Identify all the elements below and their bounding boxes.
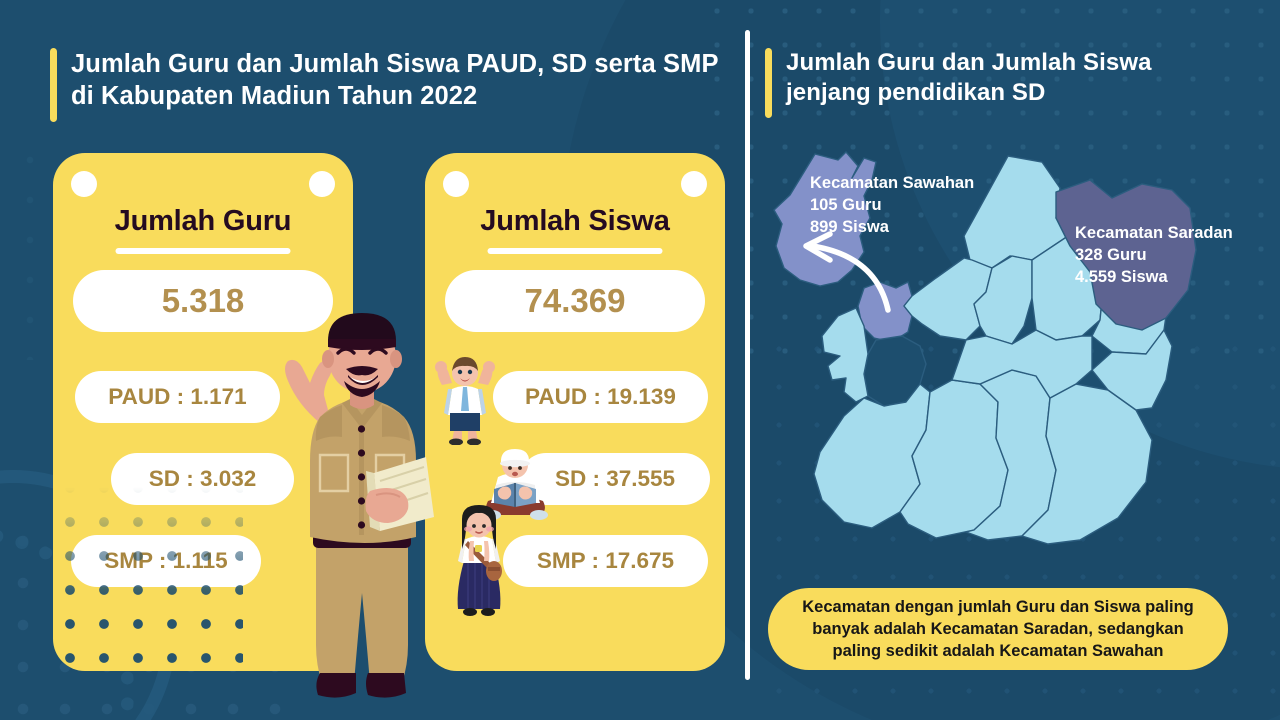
heading-accent-bar xyxy=(765,48,772,118)
heading-accent-bar xyxy=(50,48,57,122)
card-breakdown-smp: SMP : 1.115 xyxy=(71,535,261,587)
card-punch-hole-right xyxy=(681,171,707,197)
summary-note-text: Kecamatan dengan jumlah Guru dan Siswa p… xyxy=(786,596,1210,663)
infographic-canvas: Jumlah Guru dan Jumlah Siswa PAUD, SD se… xyxy=(0,0,1280,720)
card-breakdown-paud: PAUD : 19.139 xyxy=(493,371,708,423)
map-label-sawahan-students: 899 Siswa xyxy=(810,216,974,238)
map-label-sawahan: Kecamatan Sawahan 105 Guru 899 Siswa xyxy=(810,172,974,238)
card-title-underline xyxy=(488,248,663,254)
card-punch-hole-left xyxy=(443,171,469,197)
right-panel-heading: Jumlah Guru dan Jumlah Siswa jenjang pen… xyxy=(765,48,1235,118)
right-heading-text: Jumlah Guru dan Jumlah Siswa jenjang pen… xyxy=(786,48,1235,108)
card-title: Jumlah Guru xyxy=(53,205,353,238)
schoolgirl-illustration xyxy=(448,505,510,620)
summary-note-box: Kecamatan dengan jumlah Guru dan Siswa p… xyxy=(768,588,1228,670)
map-label-sawahan-teachers: 105 Guru xyxy=(810,194,974,216)
map-label-saradan: Kecamatan Saradan 328 Guru 4.559 Siswa xyxy=(1075,222,1233,288)
card-title-underline xyxy=(116,248,291,254)
left-panel-heading: Jumlah Guru dan Jumlah Siswa PAUD, SD se… xyxy=(50,48,740,122)
card-breakdown-smp: SMP : 17.675 xyxy=(503,535,708,587)
map-label-sawahan-name: Kecamatan Sawahan xyxy=(810,172,974,194)
map-label-saradan-name: Kecamatan Saradan xyxy=(1075,222,1233,244)
card-punch-hole-right xyxy=(309,171,335,197)
card-total-value: 74.369 xyxy=(445,270,705,332)
card-title: Jumlah Siswa xyxy=(425,205,725,238)
cheering-boy-illustration xyxy=(430,355,500,445)
card-breakdown-paud: PAUD : 1.171 xyxy=(75,371,280,423)
map-label-saradan-students: 4.559 Siswa xyxy=(1075,266,1233,288)
card-punch-hole-left xyxy=(71,171,97,197)
panel-divider xyxy=(745,30,750,680)
map-region-west xyxy=(822,308,868,402)
left-heading-text: Jumlah Guru dan Jumlah Siswa PAUD, SD se… xyxy=(71,48,740,112)
map-region-sawahan xyxy=(858,282,912,342)
map-label-saradan-teachers: 328 Guru xyxy=(1075,244,1233,266)
